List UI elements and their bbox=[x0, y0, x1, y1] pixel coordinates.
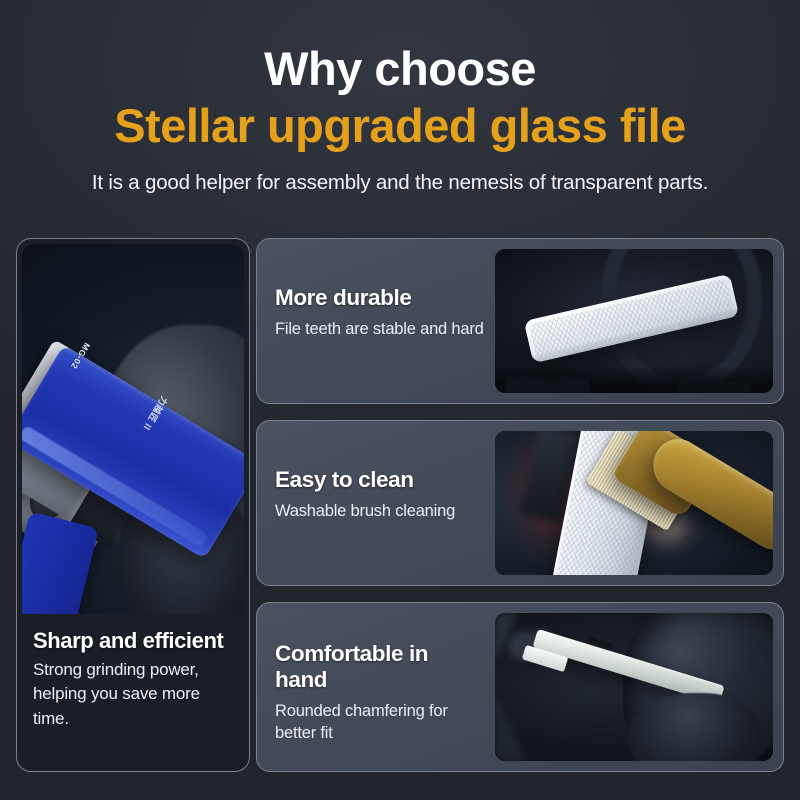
feature-text-block: More durable File teeth are stable and h… bbox=[257, 239, 495, 403]
product-photo-brush-cleaning bbox=[495, 431, 773, 575]
infographic-page: Why choose Stellar upgraded glass file I… bbox=[0, 0, 800, 800]
product-photo-power-tool: MG-02 力越匠 ll bbox=[22, 244, 244, 614]
product-photo-glass-file bbox=[495, 249, 773, 393]
feature-text-block: Comfortable in hand Rounded chamfering f… bbox=[257, 603, 495, 771]
feature-card-sharp-and-efficient[interactable]: MG-02 力越匠 ll Sharp and efficient Strong … bbox=[16, 238, 250, 772]
feature-desc: Rounded chamfering for better fit bbox=[275, 700, 485, 744]
feature-desc-line: Strong grinding power, bbox=[33, 658, 235, 682]
feature-desc-line: Rounded chamfering for bbox=[275, 700, 485, 722]
feature-desc-line: time. bbox=[33, 707, 235, 731]
product-photo-hand-holding-file bbox=[495, 613, 773, 761]
feature-desc-line: helping you save more bbox=[33, 682, 235, 706]
background-ground bbox=[495, 367, 773, 393]
feature-title: More durable bbox=[275, 285, 485, 311]
feature-text-block: Easy to clean Washable brush cleaning bbox=[257, 421, 495, 585]
feature-desc-line: better fit bbox=[275, 722, 485, 744]
tool-handle bbox=[22, 511, 99, 614]
feature-title: Comfortable in hand bbox=[275, 641, 485, 693]
feature-desc: Strong grinding power, helping you save … bbox=[33, 658, 235, 730]
feature-card-more-durable[interactable]: More durable File teeth are stable and h… bbox=[256, 238, 784, 404]
feature-text-block: Sharp and efficient Strong grinding powe… bbox=[17, 614, 249, 747]
feature-grid: MG-02 力越匠 ll Sharp and efficient Strong … bbox=[0, 0, 800, 800]
feature-desc: Washable brush cleaning bbox=[275, 500, 485, 522]
feature-card-easy-to-clean[interactable]: Easy to clean Washable brush cleaning bbox=[256, 420, 784, 586]
feature-desc: File teeth are stable and hard bbox=[275, 318, 485, 340]
feature-title: Sharp and efficient bbox=[33, 628, 235, 653]
feature-title: Easy to clean bbox=[275, 467, 485, 493]
feature-card-comfortable-in-hand[interactable]: Comfortable in hand Rounded chamfering f… bbox=[256, 602, 784, 772]
